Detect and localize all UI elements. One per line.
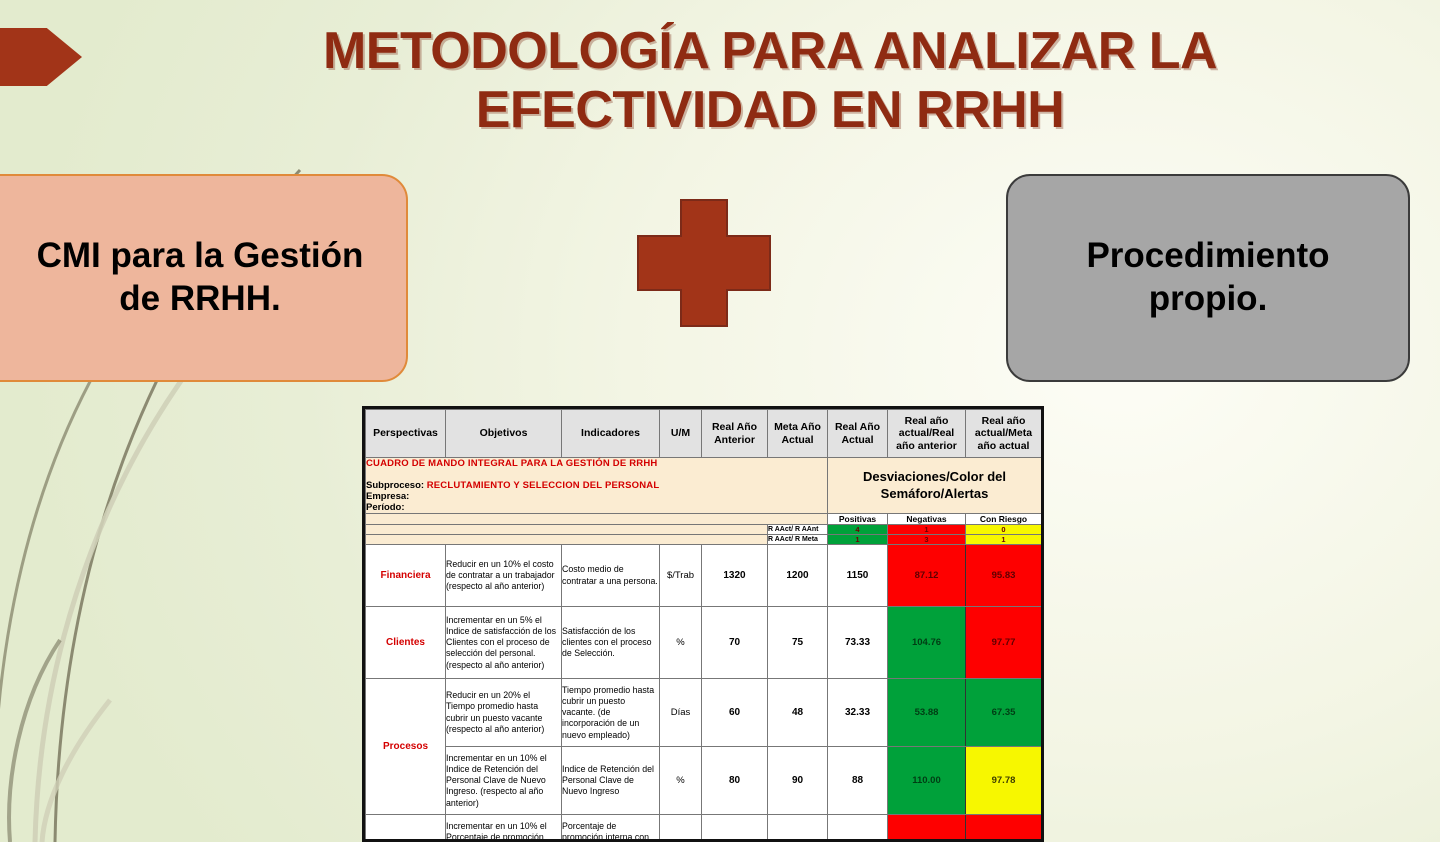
cmi-row-2-dev-meta: 97.77 [966, 607, 1042, 679]
cmi-col-dev-real-anterior: Real año actual/Real año anterior [888, 410, 966, 458]
cmi-dev-value-2-positivas: 1 [828, 535, 888, 545]
cmi-row-2-real-actual: 73.33 [828, 607, 888, 679]
cmi-row-4-um: % [660, 747, 702, 815]
cmi-col-real-anio-anterior: Real Año Anterior [702, 410, 768, 458]
cmi-banner-title: CUADRO DE MANDO INTEGRAL PARA LA GESTIÓN… [366, 458, 827, 469]
cmi-row-5-indicador: Porcentaje de promoción interna con trab… [562, 815, 660, 842]
cmi-deviations-header-row: Positivas Negativas Con Riesgo [366, 514, 1042, 525]
table-row: Financiera Reducir en un 10% el costo de… [366, 545, 1042, 607]
cmi-periodo-label: Período: [366, 502, 827, 513]
page-title-line-2: EFECTIVIDAD EN RRHH [180, 81, 1360, 140]
cmi-row-5-dev-anterior: 93.75 [888, 815, 966, 842]
table-row: Clientes Incrementar en un 5% el Indice … [366, 607, 1042, 679]
cmi-subproceso-label: Subproceso: [366, 480, 424, 491]
cmi-row-1-real-actual: 1150 [828, 545, 888, 607]
cmi-row-3-real-anterior: 60 [702, 679, 768, 747]
cmi-row-1-indicador: Costo medio de contratar a una persona. [562, 545, 660, 607]
cmi-dev-col-positivas: Positivas [828, 514, 888, 525]
cmi-row-5-real-actual: 37.50 [828, 815, 888, 842]
cmi-row-3-dev-meta: 67.35 [966, 679, 1042, 747]
cmi-row-1-dev-anterior: 87.12 [888, 545, 966, 607]
cmi-row-2-objetivo: Incrementar en un 5% el Indice de satisf… [446, 607, 562, 679]
cmi-banner-spacer-2 [366, 525, 768, 535]
pentagon-arrow-icon [0, 28, 82, 86]
right-callout-text: Procedimiento propio. [1008, 235, 1408, 320]
cmi-col-indicadores: Indicadores [562, 410, 660, 458]
cmi-column-header-row: Perspectivas Objetivos Indicadores U/M R… [366, 410, 1042, 458]
cmi-banner-spacer [366, 514, 828, 525]
cmi-dev-row-label-2: R AAct/ R Meta [768, 535, 828, 545]
page-title: METODOLOGÍA PARA ANALIZAR LA EFECTIVIDAD… [180, 22, 1360, 140]
cmi-deviations-row-1: R AAct/ R AAnt 4 1 0 [366, 525, 1042, 535]
cmi-row-4-dev-meta: 97.78 [966, 747, 1042, 815]
cmi-dev-col-conriesgo: Con Riesgo [966, 514, 1042, 525]
cmi-dev-col-negativas: Negativas [888, 514, 966, 525]
cmi-row-5-meta-actual: 50 [768, 815, 828, 842]
cmi-col-perspectivas: Perspectivas [366, 410, 446, 458]
cmi-row-5-objetivo: Incrementar en un 10% el Porcentaje de p… [446, 815, 562, 842]
cmi-row-1-perspectiva: Financiera [366, 545, 446, 607]
cmi-row-5-um: % [660, 815, 702, 842]
cmi-row-2-dev-anterior: 104.76 [888, 607, 966, 679]
cmi-col-dev-meta-actual: Real año actual/Meta año actual [966, 410, 1042, 458]
cmi-dev-value-1-negativas: 1 [888, 525, 966, 535]
cmi-subproceso-value: RECLUTAMIENTO Y SELECCION DEL PERSONAL [427, 480, 660, 491]
cmi-row-4-dev-anterior: 110.00 [888, 747, 966, 815]
cmi-table-image: CUADRO DE MANDO INTEGRAL PARA LA GESTIÓN… [362, 406, 1044, 842]
table-row: Procesos Reducir en un 20% el Tiempo pro… [366, 679, 1042, 747]
cmi-row-2-indicador: Satisfacción de los clientes con el proc… [562, 607, 660, 679]
cmi-row-3-indicador: Tiempo promedio hasta cubrir un puesto v… [562, 679, 660, 747]
cmi-dev-value-2-conriesgo: 1 [966, 535, 1042, 545]
plus-cross-icon [636, 198, 772, 328]
cmi-row-2-meta-actual: 75 [768, 607, 828, 679]
page-title-line-1: METODOLOGÍA PARA ANALIZAR LA [180, 22, 1360, 81]
cmi-row-2-real-anterior: 70 [702, 607, 768, 679]
cmi-row-3-meta-actual: 48 [768, 679, 828, 747]
cmi-row-2-um: % [660, 607, 702, 679]
cmi-col-real-anio-actual: Real Año Actual [828, 410, 888, 458]
cmi-row-1-real-anterior: 1320 [702, 545, 768, 607]
cmi-deviations-row-2: R AAct/ R Meta 1 3 1 [366, 535, 1042, 545]
cmi-banner-row: CUADRO DE MANDO INTEGRAL PARA LA GESTIÓN… [366, 458, 1042, 514]
cmi-row-5-real-anterior: 40 [702, 815, 768, 842]
cmi-row-4-meta-actual: 90 [768, 747, 828, 815]
cmi-row-3-dev-anterior: 53.88 [888, 679, 966, 747]
cmi-row-1-um: $/Trab [660, 545, 702, 607]
cmi-dev-value-2-negativas: 3 [888, 535, 966, 545]
cmi-row-3-objetivo: Reducir en un 20% el Tiempo promedio has… [446, 679, 562, 747]
cmi-row-4-indicador: Indice de Retención del Personal Clave d… [562, 747, 660, 815]
cmi-deviations-title: Desviaciones/Color del Semáforo/Alertas [828, 458, 1042, 514]
right-callout-box: Procedimiento propio. [1006, 174, 1410, 382]
cmi-row-1-dev-meta: 95.83 [966, 545, 1042, 607]
cmi-row-1-meta-actual: 1200 [768, 545, 828, 607]
cmi-row-3-perspectiva: Procesos [366, 679, 446, 815]
cmi-row-5-perspectiva: AC [366, 815, 446, 842]
cmi-empresa-label: Empresa: [366, 491, 827, 502]
cmi-row-3-real-actual: 32.33 [828, 679, 888, 747]
cmi-row-1-objetivo: Reducir en un 10% el costo de contratar … [446, 545, 562, 607]
cmi-col-objetivos: Objetivos [446, 410, 562, 458]
cmi-dev-value-1-conriesgo: 0 [966, 525, 1042, 535]
cmi-row-4-real-actual: 88 [828, 747, 888, 815]
cmi-banner-left: CUADRO DE MANDO INTEGRAL PARA LA GESTIÓN… [366, 458, 828, 514]
table-row: Incrementar en un 10% el Indice de Reten… [366, 747, 1042, 815]
cmi-dev-value-1-positivas: 4 [828, 525, 888, 535]
cmi-banner-spacer-3 [366, 535, 768, 545]
cmi-row-4-objetivo: Incrementar en un 10% el Indice de Reten… [446, 747, 562, 815]
cmi-row-3-um: Días [660, 679, 702, 747]
cmi-row-5-dev-meta: 75.00 [966, 815, 1042, 842]
cmi-table-body: Financiera Reducir en un 10% el costo de… [366, 545, 1042, 842]
cmi-row-2-perspectiva: Clientes [366, 607, 446, 679]
cmi-row-4-real-anterior: 80 [702, 747, 768, 815]
cmi-col-um: U/M [660, 410, 702, 458]
cmi-dev-row-label-1: R AAct/ R AAnt [768, 525, 828, 535]
cmi-col-meta-anio-actual: Meta Año Actual [768, 410, 828, 458]
left-callout-text: CMI para la Gestión de RRHH. [0, 235, 406, 320]
table-row: AC Incrementar en un 10% el Porcentaje d… [366, 815, 1042, 842]
cmi-table: CUADRO DE MANDO INTEGRAL PARA LA GESTIÓN… [365, 409, 1042, 842]
left-callout-box: CMI para la Gestión de RRHH. [0, 174, 408, 382]
